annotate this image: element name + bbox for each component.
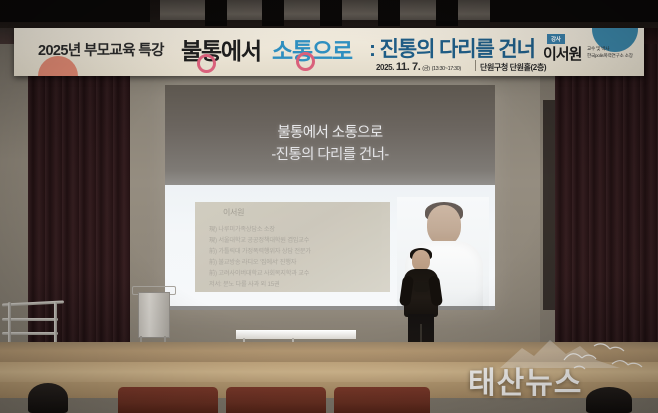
ceiling-beam [0,0,150,22]
banner-ring-decoration-icon [296,52,315,71]
banner-speaker-affiliation: 교수 및 박사 한국polis폭력연구소 소장 [587,46,633,60]
watermark-text: 태산뉴스 [468,358,582,402]
slide-title: 불통에서 소통으로 [165,121,495,142]
slide-bio-line: 前) 고려사이버대학교 사회복지학과 교수 [209,268,309,277]
banner-title-part-3: : 진통의 다리를 건너 [369,33,535,63]
presenter-hands-with-microphone [414,282,429,292]
slide-bio-line: 前) 가톨릭대 가정폭력행위자 상담 전문가 [209,246,311,255]
cart-body [138,292,170,338]
slide-bio-heading: 이서원 [223,207,244,218]
audience-person-head [586,387,632,413]
banner-place-text: 단원구청 단원홀(2층) [480,62,546,73]
screen-bottom-edge [165,306,495,310]
banner-ring-decoration-icon [197,54,216,73]
ceiling-bracket [320,0,342,26]
slide-bio-line: 現) 서울대학교 공공정책대학원 겸임교수 [209,235,309,244]
banner-divider [475,60,476,71]
slide-bio-panel: 이서원 現) 나루미가족상담소 소장 現) 서울대학교 공공정책대학원 겸임교수… [195,202,390,292]
projection-screen: 불통에서 소통으로 -진통의 다리를 건너- 이서원 現) 나루미가족상담소 소… [165,85,495,310]
slide-subtitle: -진통의 다리를 건너- [165,143,495,164]
audience-seat [118,387,218,413]
audience-seat [226,387,326,413]
slide-bio-line: 現) 나루미가족상담소 소장 [209,224,275,233]
banner-date-text: 2025. 11. 7. (금) (13:30~17:30) [376,61,461,73]
slide-bio-line: 저서: 분노 다룰 사과 외 15권 [209,279,280,288]
audience-person-head [28,383,68,413]
ceiling-beam [490,0,658,22]
event-banner: 2025년 부모교육 특강 불통에서 소통으로 : 진통의 다리를 건너 202… [14,28,644,76]
stage-curtain-right [555,28,658,358]
banner-title-part-1: 불통에서 [181,32,261,66]
photograph-lecture-hall: 2025년 부모교육 특강 불통에서 소통으로 : 진통의 다리를 건너 202… [0,0,658,413]
ceiling-bracket [205,0,227,26]
ceiling-bracket [378,0,400,26]
banner-speaker-block: 강사 이서원 교수 및 박사 한국polis폭력연구소 소장 [541,34,639,70]
banner-prefix-text: 2025년 부모교육 특강 [38,39,164,60]
presenter-head [412,250,430,271]
audience-seat [334,387,430,413]
slide-bio-line: 前) 불교방송 라디오 '집에서' 진행자 [209,257,296,266]
folding-table [236,330,356,339]
banner-speaker-name: 이서원 [543,43,581,64]
ceiling-bracket [262,0,284,26]
ceiling-bracket [436,0,458,26]
presenter-person [401,250,441,350]
